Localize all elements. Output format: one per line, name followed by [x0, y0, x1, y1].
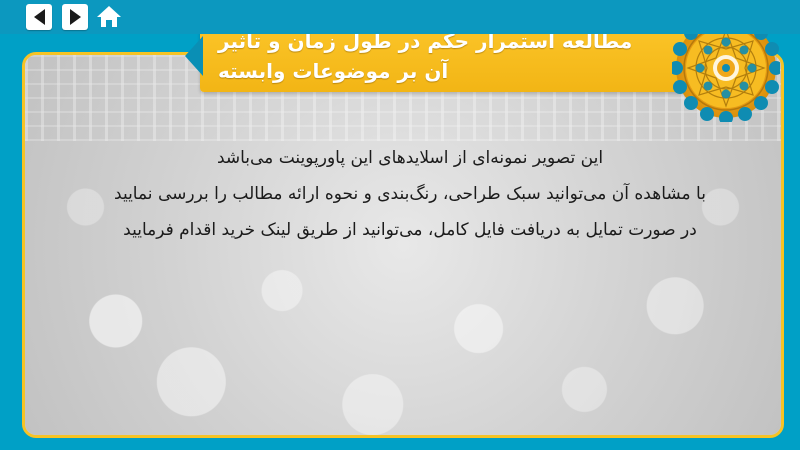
- triangle-right-icon: [70, 9, 81, 25]
- body-line-3: در صورت تمایل به دریافت فایل کامل، می‌تو…: [65, 212, 755, 248]
- body-line-1: این تصویر نمونه‌ای از اسلایدهای این پاور…: [65, 140, 755, 176]
- triangle-left-icon: [34, 9, 45, 25]
- navigation-bar: [0, 0, 800, 34]
- banner-ribbon-tail: [185, 36, 203, 76]
- previous-slide-button[interactable]: [26, 4, 52, 30]
- body-text-block: این تصویر نمونه‌ای از اسلایدهای این پاور…: [65, 140, 755, 248]
- body-line-2: با مشاهده آن می‌توانید سبک طراحی، رنگ‌بن…: [65, 176, 755, 212]
- content-frame: این تصویر نمونه‌ای از اسلایدهای این پاور…: [22, 52, 784, 438]
- slide-canvas: این تصویر نمونه‌ای از اسلایدهای این پاور…: [0, 0, 800, 450]
- next-slide-button[interactable]: [62, 4, 88, 30]
- home-button[interactable]: [96, 4, 122, 30]
- home-icon: [97, 6, 121, 28]
- title-line-2: آن بر موضوعات وابسته: [218, 56, 448, 86]
